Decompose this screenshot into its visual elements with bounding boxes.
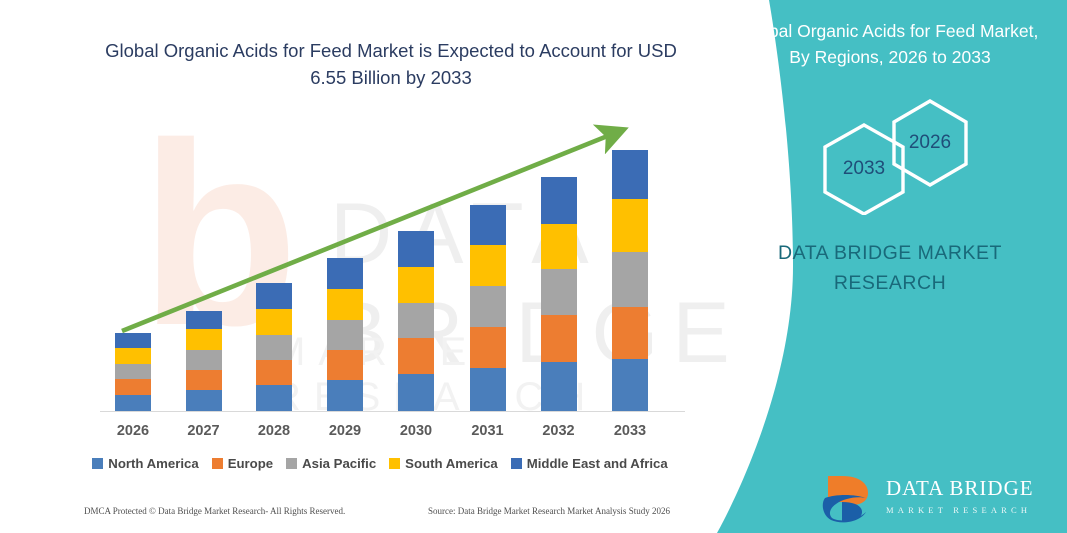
legend-label: Middle East and Africa bbox=[527, 456, 668, 471]
hexagon-2033-label: 2033 bbox=[828, 158, 900, 180]
hexagon-group: 2026 2033 bbox=[735, 95, 1045, 215]
hexagon-shapes bbox=[735, 95, 1045, 215]
logo-main-text: DATA BRIDGE bbox=[886, 476, 1034, 501]
brand-name: DATA BRIDGE MARKET RESEARCH bbox=[735, 238, 1045, 298]
legend-label: Europe bbox=[228, 456, 273, 471]
legend-swatch-icon bbox=[92, 458, 103, 469]
data-bridge-logo: DATA BRIDGE MARKET RESEARCH bbox=[822, 472, 1052, 526]
legend-item-north-america[interactable]: North America bbox=[92, 456, 198, 471]
brand-line-1: DATA BRIDGE MARKET bbox=[778, 242, 1002, 264]
hexagon-2026-label: 2026 bbox=[894, 132, 966, 154]
brand-line-2: RESEARCH bbox=[834, 272, 946, 294]
logo-wordmark: DATA BRIDGE MARKET RESEARCH bbox=[886, 476, 1034, 515]
chart-legend: North AmericaEuropeAsia PacificSouth Ame… bbox=[0, 456, 760, 471]
legend-label: Asia Pacific bbox=[302, 456, 376, 471]
legend-label: North America bbox=[108, 456, 198, 471]
legend-item-south-america[interactable]: South America bbox=[389, 456, 498, 471]
panel-title: Global Organic Acids for Feed Market, By… bbox=[735, 18, 1045, 71]
legend-item-middle-east-and-africa[interactable]: Middle East and Africa bbox=[511, 456, 668, 471]
logo-sub-text: MARKET RESEARCH bbox=[886, 505, 1034, 515]
legend-swatch-icon bbox=[212, 458, 223, 469]
legend-swatch-icon bbox=[511, 458, 522, 469]
footer-copyright: DMCA Protected © Data Bridge Market Rese… bbox=[84, 506, 345, 516]
logo-mark-icon bbox=[822, 472, 882, 524]
panel-content: Global Organic Acids for Feed Market, By… bbox=[657, 0, 1067, 533]
footer-source: Source: Data Bridge Market Research Mark… bbox=[428, 506, 670, 516]
right-branding-panel: Global Organic Acids for Feed Market, By… bbox=[657, 0, 1067, 533]
growth-trend-arrow bbox=[0, 0, 760, 533]
legend-label: South America bbox=[405, 456, 498, 471]
infographic-root: b DATA BRIDGE MARKET RESEARCH Global Org… bbox=[0, 0, 1067, 533]
chart-area: Global Organic Acids for Feed Market is … bbox=[0, 0, 760, 533]
legend-swatch-icon bbox=[389, 458, 400, 469]
legend-swatch-icon bbox=[286, 458, 297, 469]
legend-item-asia-pacific[interactable]: Asia Pacific bbox=[286, 456, 376, 471]
legend-item-europe[interactable]: Europe bbox=[212, 456, 273, 471]
